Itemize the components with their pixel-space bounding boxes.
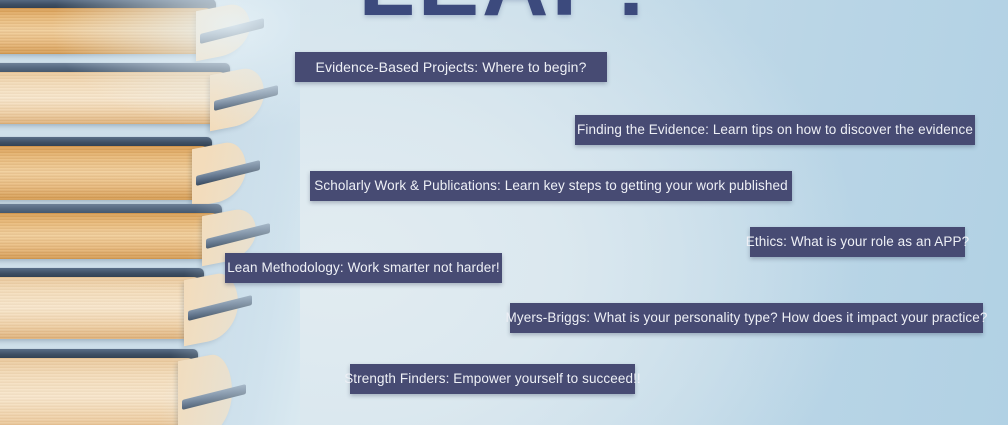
topic-banner-ethics[interactable]: Ethics: What is your role as an APP?: [750, 227, 965, 257]
topic-banner-label: Evidence-Based Projects: Where to begin?: [316, 60, 587, 74]
presentation-slide: LEAP! Evidence-Based Projects: Where to …: [0, 0, 1008, 425]
book-layer-5: [0, 277, 200, 339]
book-stack-image: [0, 0, 300, 425]
topic-banner-label: Myers-Briggs: What is your personality t…: [506, 311, 988, 325]
topic-banner-strength-finders[interactable]: Strength Finders: Empower yourself to su…: [350, 364, 635, 394]
book-pages-2: [0, 72, 226, 124]
book-foredge-6: [178, 351, 232, 425]
topic-banner-label: Lean Methodology: Work smarter not harde…: [227, 261, 500, 275]
topic-banner-myers-briggs[interactable]: Myers-Briggs: What is your personality t…: [510, 303, 983, 333]
topic-banner-label: Strength Finders: Empower yourself to su…: [344, 372, 641, 386]
book-pages-5: [0, 277, 200, 339]
book-layer-4: [0, 213, 218, 259]
topic-banner-scholarly-work[interactable]: Scholarly Work & Publications: Learn key…: [310, 171, 792, 201]
book-layer-2: [0, 72, 226, 124]
book-layer-6: [0, 358, 194, 425]
book-layer-1: [0, 8, 212, 54]
topic-banner-evidence-based-projects[interactable]: Evidence-Based Projects: Where to begin?: [295, 52, 607, 82]
topic-banner-label: Ethics: What is your role as an APP?: [746, 235, 969, 249]
topic-banner-lean-methodology[interactable]: Lean Methodology: Work smarter not harde…: [225, 253, 502, 283]
book-pages-3: [0, 146, 208, 200]
book-layer-3: [0, 146, 208, 200]
book-pages-6: [0, 358, 194, 425]
book-pages-1: [0, 8, 212, 54]
topic-banner-finding-the-evidence[interactable]: Finding the Evidence: Learn tips on how …: [575, 115, 975, 145]
book-pages-4: [0, 213, 218, 259]
topic-banner-label: Finding the Evidence: Learn tips on how …: [577, 123, 973, 137]
topic-banner-label: Scholarly Work & Publications: Learn key…: [314, 179, 787, 193]
